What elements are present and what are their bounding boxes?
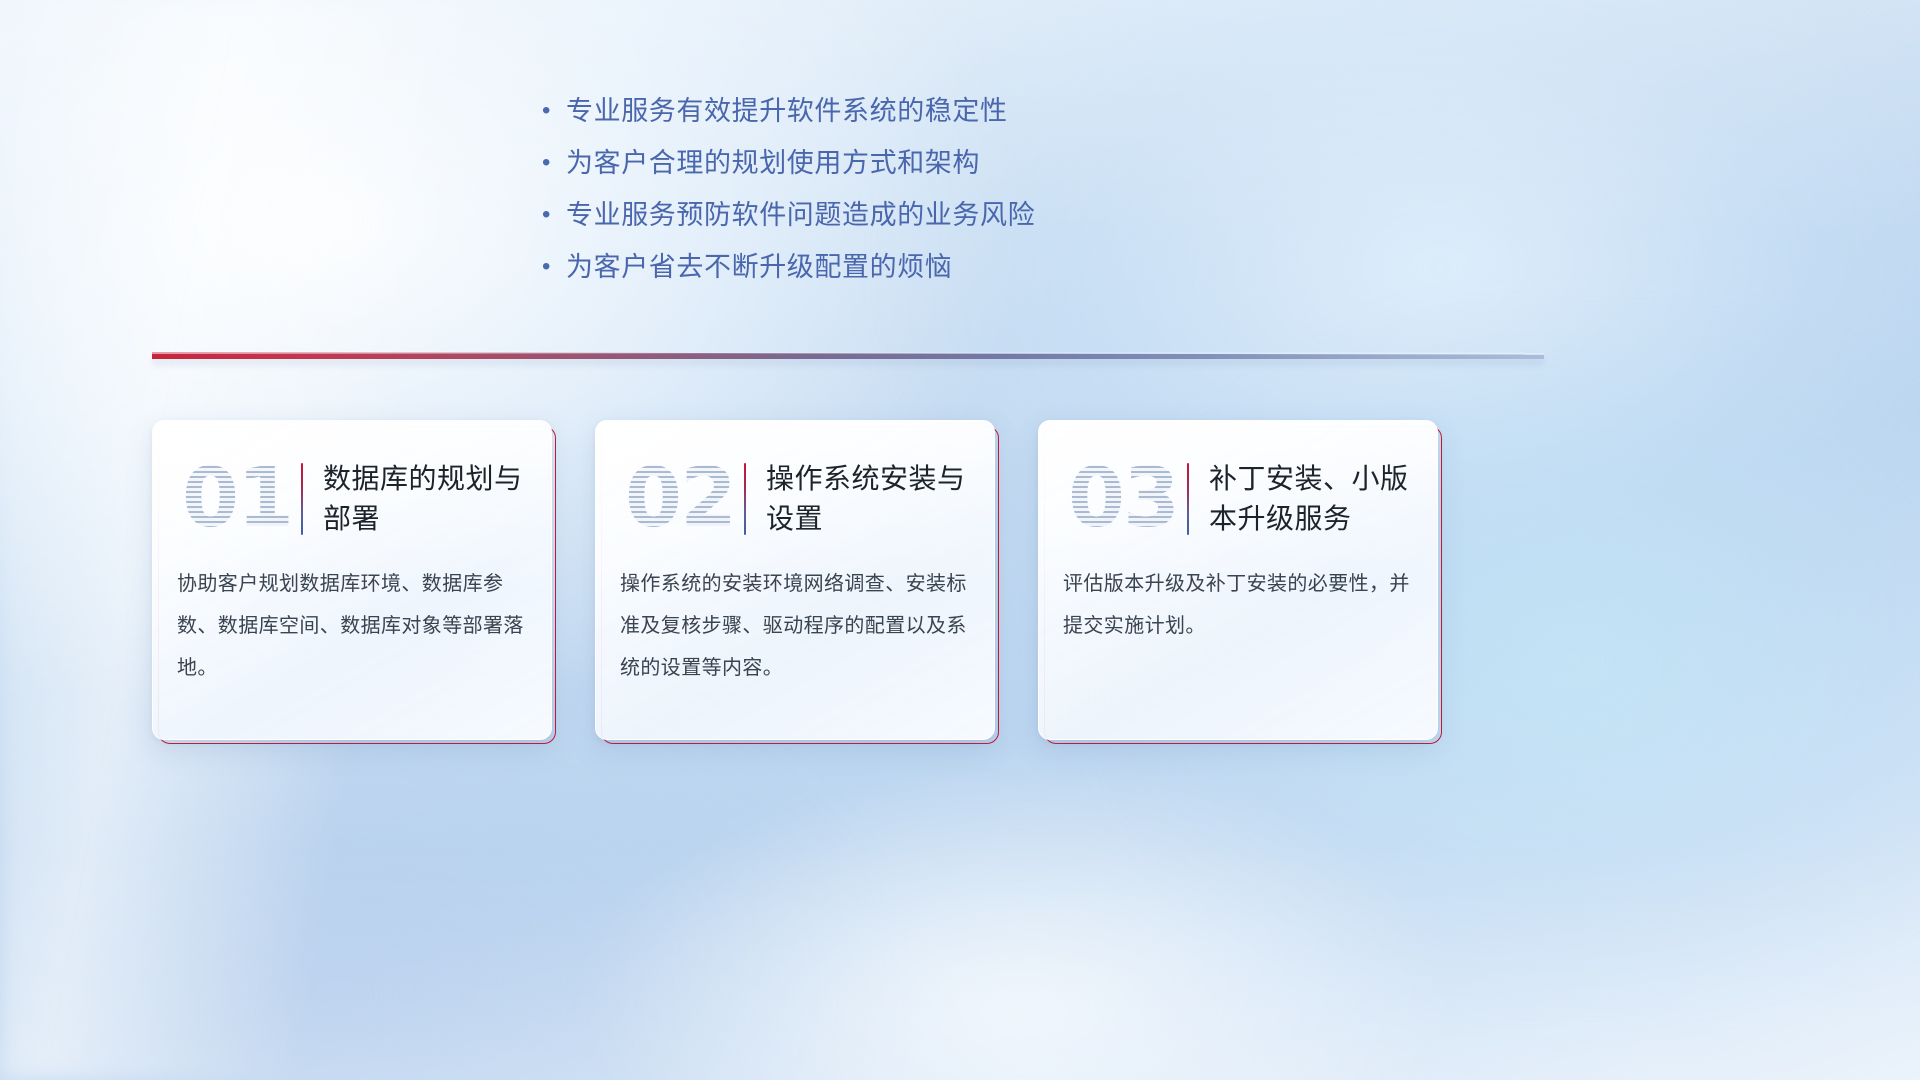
card-divider-rule — [744, 463, 746, 535]
service-card-list: 01 01 数据库的规划与部署 协助客户规划数据库环境、数据库参数、数据库空间、… — [152, 420, 1438, 740]
card-number: 01 01 — [177, 451, 297, 547]
section-divider — [152, 348, 1544, 370]
card-title: 数据库的规划与部署 — [323, 459, 525, 539]
service-card[interactable]: 01 01 数据库的规划与部署 协助客户规划数据库环境、数据库参数、数据库空间、… — [152, 420, 552, 740]
card-number: 02 02 — [620, 451, 740, 547]
card-body: 01 01 数据库的规划与部署 协助客户规划数据库环境、数据库参数、数据库空间、… — [152, 420, 552, 740]
card-number-striped: 02 — [625, 451, 735, 547]
card-header: 02 02 操作系统安装与设置 — [596, 421, 994, 541]
card-divider-rule — [301, 463, 303, 535]
bullet-item: • 专业服务有效提升软件系统的稳定性 — [536, 94, 1296, 128]
bullet-dot-icon: • — [536, 198, 566, 232]
bullet-item-text: 为客户省去不断升级配置的烦恼 — [566, 250, 952, 284]
service-card[interactable]: 02 02 操作系统安装与设置 操作系统的安装环境网络调查、安装标准及复核步骤、… — [595, 420, 995, 740]
card-description: 操作系统的安装环境网络调查、安装标准及复核步骤、驱动程序的配置以及系统的设置等内… — [596, 541, 994, 689]
bullet-item-text: 专业服务预防软件问题造成的业务风险 — [566, 198, 1035, 232]
card-body: 03 03 补丁安装、小版本升级服务 评估版本升级及补丁安装的必要性，并提交实施… — [1038, 420, 1438, 740]
card-number: 03 03 — [1063, 451, 1183, 547]
card-header: 03 03 补丁安装、小版本升级服务 — [1039, 421, 1437, 541]
benefits-bullet-list: • 专业服务有效提升软件系统的稳定性 • 为客户合理的规划使用方式和架构 • 专… — [536, 94, 1296, 302]
bullet-dot-icon: • — [536, 94, 566, 128]
card-title: 操作系统安装与设置 — [766, 459, 968, 539]
bullet-item-text: 为客户合理的规划使用方式和架构 — [566, 146, 980, 180]
bullet-item: • 为客户合理的规划使用方式和架构 — [536, 146, 1296, 180]
bullet-item: • 专业服务预防软件问题造成的业务风险 — [536, 198, 1296, 232]
bullet-dot-icon: • — [536, 146, 566, 180]
card-body: 02 02 操作系统安装与设置 操作系统的安装环境网络调查、安装标准及复核步骤、… — [595, 420, 995, 740]
card-header: 01 01 数据库的规划与部署 — [153, 421, 551, 541]
card-divider-rule — [1187, 463, 1189, 535]
card-number-striped: 03 — [1068, 451, 1178, 547]
card-description: 协助客户规划数据库环境、数据库参数、数据库空间、数据库对象等部署落地。 — [153, 541, 551, 689]
bullet-dot-icon: • — [536, 250, 566, 284]
divider-shadow — [152, 359, 1544, 368]
bullet-item: • 为客户省去不断升级配置的烦恼 — [536, 250, 1296, 284]
bullet-item-text: 专业服务有效提升软件系统的稳定性 — [566, 94, 1008, 128]
card-number-striped: 01 — [182, 451, 292, 547]
divider-highlight — [152, 351, 1544, 354]
card-title: 补丁安装、小版本升级服务 — [1209, 459, 1411, 539]
service-card[interactable]: 03 03 补丁安装、小版本升级服务 评估版本升级及补丁安装的必要性，并提交实施… — [1038, 420, 1438, 740]
card-description: 评估版本升级及补丁安装的必要性，并提交实施计划。 — [1039, 541, 1437, 647]
